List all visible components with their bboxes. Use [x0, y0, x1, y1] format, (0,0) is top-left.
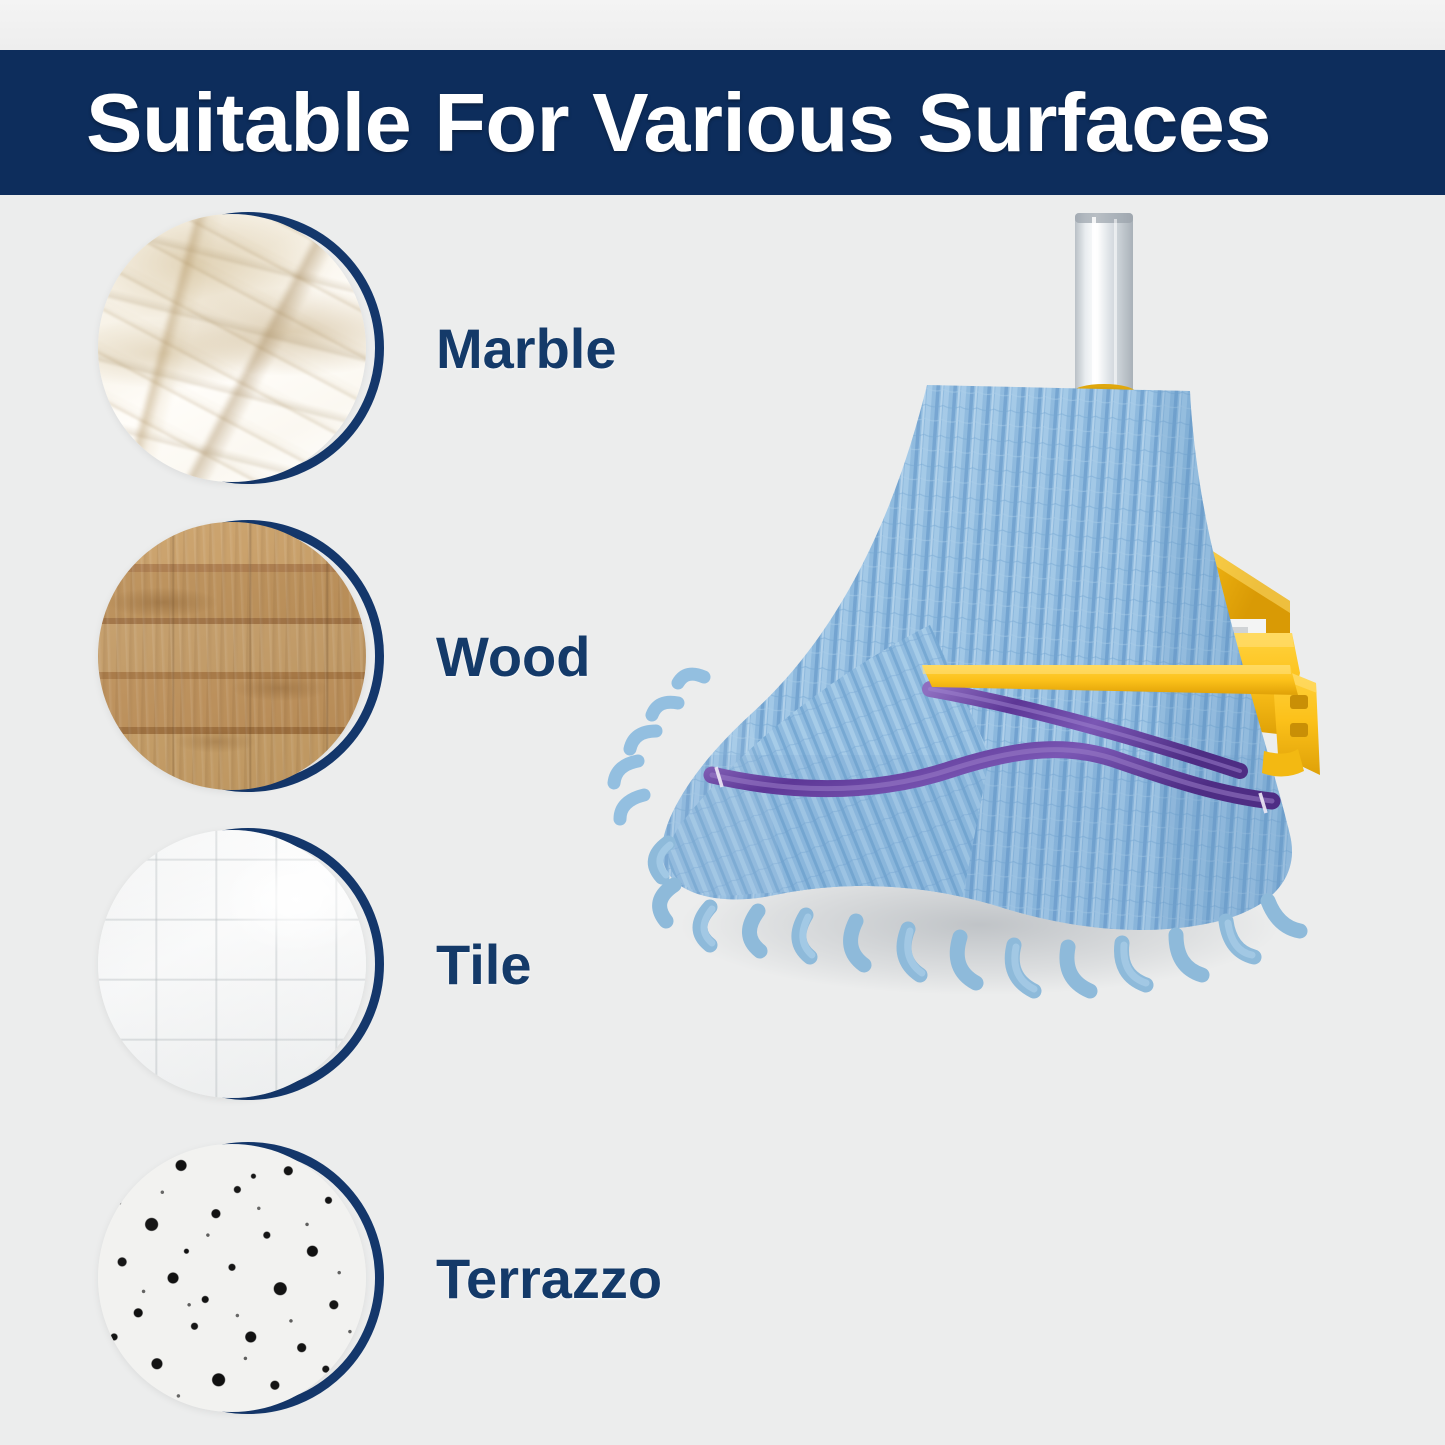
surface-label: Tile [436, 932, 531, 997]
swatch-image [98, 1144, 366, 1412]
wood-swatch-icon [98, 520, 398, 792]
page-title: Suitable For Various Surfaces [86, 75, 1271, 171]
marble-swatch-icon [98, 212, 398, 484]
swatch-image [98, 830, 366, 1098]
top-background-strip [0, 0, 1445, 50]
swatch-image [98, 214, 366, 482]
product-image [600, 195, 1445, 1445]
header-banner: Suitable For Various Surfaces [0, 50, 1445, 195]
content-area: Marble Wood Tile [0, 195, 1445, 1445]
surface-label: Wood [436, 624, 590, 689]
tile-swatch-icon [98, 828, 398, 1100]
surface-label: Marble [436, 316, 617, 381]
list-item: Terrazzo [0, 1133, 700, 1423]
list-item: Tile [0, 819, 700, 1109]
list-item: Marble [0, 203, 700, 493]
surface-list: Marble Wood Tile [0, 195, 700, 1445]
list-item: Wood [0, 511, 700, 801]
swatch-image [98, 522, 366, 790]
terrazzo-swatch-icon [98, 1142, 398, 1414]
